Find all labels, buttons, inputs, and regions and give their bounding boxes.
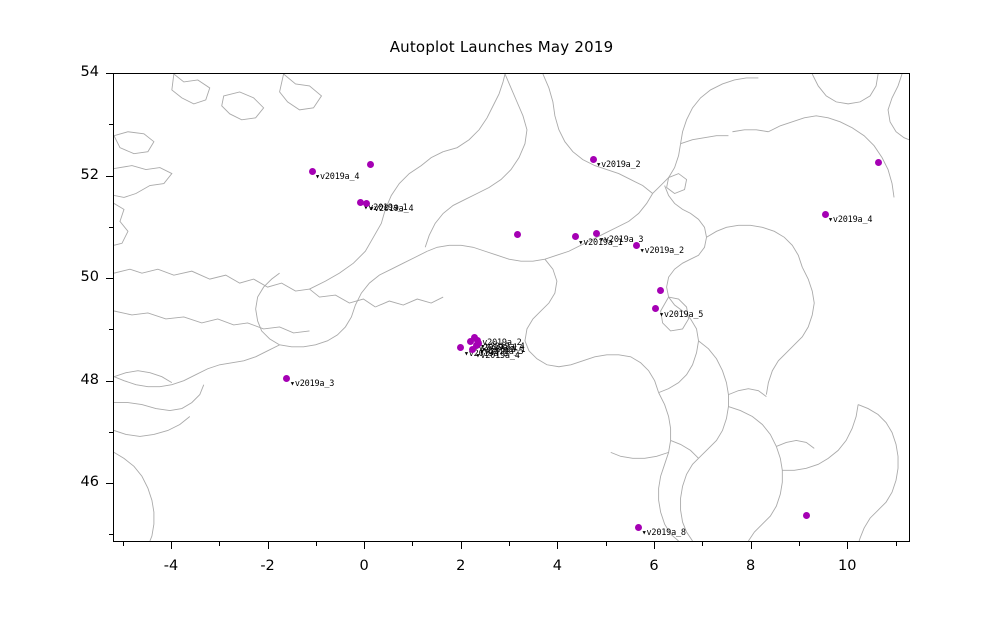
data-point-label: ▾v2019a_8	[642, 528, 686, 538]
data-point-label: ▾v2019a_5	[659, 310, 703, 320]
x-axis-tick-label: 0	[334, 558, 394, 574]
x-axis-minor-tick	[219, 542, 220, 546]
y-axis-minor-tick	[109, 124, 113, 125]
y-axis-tick-label: 50	[53, 269, 99, 285]
data-point-label: ▾v2019a_2	[640, 246, 684, 256]
y-axis-tick	[106, 278, 113, 279]
x-axis-minor-tick	[509, 542, 510, 546]
x-axis-tick	[171, 542, 172, 549]
scatter-plot-area[interactable]: ▾v2019a_4▾v2019a_1▾v2019a_4▾v2019a_2▾v20…	[113, 73, 910, 542]
x-axis-minor-tick	[123, 542, 124, 546]
y-axis-minor-tick	[109, 329, 113, 330]
y-axis-minor-tick	[109, 227, 113, 228]
x-axis-minor-tick	[799, 542, 800, 546]
y-axis-tick-label: 48	[53, 372, 99, 388]
data-point-marker[interactable]	[875, 159, 882, 166]
x-axis-tick-label: 2	[431, 558, 491, 574]
x-axis-tick-label: 4	[527, 558, 587, 574]
y-axis-tick-label: 46	[53, 474, 99, 490]
x-axis-tick	[461, 542, 462, 549]
data-point-label: ▾v2019a_4	[315, 172, 359, 182]
y-axis-tick-label: 54	[53, 64, 99, 80]
y-axis-minor-tick	[109, 432, 113, 433]
x-axis-minor-tick	[316, 542, 317, 546]
data-point-label: ▾v2019a_3	[290, 379, 334, 389]
x-axis-tick	[364, 542, 365, 549]
data-point-label: ▾v2019a_2	[596, 160, 640, 170]
x-axis-tick-label: 6	[624, 558, 684, 574]
x-axis-tick	[654, 542, 655, 549]
y-axis-tick	[106, 73, 113, 74]
y-axis-tick	[106, 483, 113, 484]
x-axis-minor-tick	[606, 542, 607, 546]
x-axis-minor-tick	[412, 542, 413, 546]
y-axis-tick	[106, 381, 113, 382]
x-axis-tick	[557, 542, 558, 549]
y-axis-minor-tick	[109, 534, 113, 535]
x-axis-tick	[268, 542, 269, 549]
data-point-label: ▾v2019a_4	[475, 351, 519, 361]
x-axis-tick-label: 10	[817, 558, 877, 574]
x-axis-tick-label: -4	[141, 558, 201, 574]
figure-canvas: Autoplot Launches May 2019	[0, 0, 1003, 633]
x-axis-tick-label: -2	[238, 558, 298, 574]
data-point-label: ▾v2019a_4	[828, 215, 872, 225]
x-axis-tick	[847, 542, 848, 549]
basemap-coastlines	[114, 74, 909, 541]
x-axis-minor-tick	[702, 542, 703, 546]
y-axis-tick-label: 52	[53, 167, 99, 183]
data-point-label: ▾v2019a_4	[369, 204, 413, 214]
x-axis-tick-label: 8	[721, 558, 781, 574]
page-title: Autoplot Launches May 2019	[0, 38, 1003, 56]
x-axis-minor-tick	[896, 542, 897, 546]
x-axis-tick	[751, 542, 752, 549]
y-axis-tick	[106, 176, 113, 177]
